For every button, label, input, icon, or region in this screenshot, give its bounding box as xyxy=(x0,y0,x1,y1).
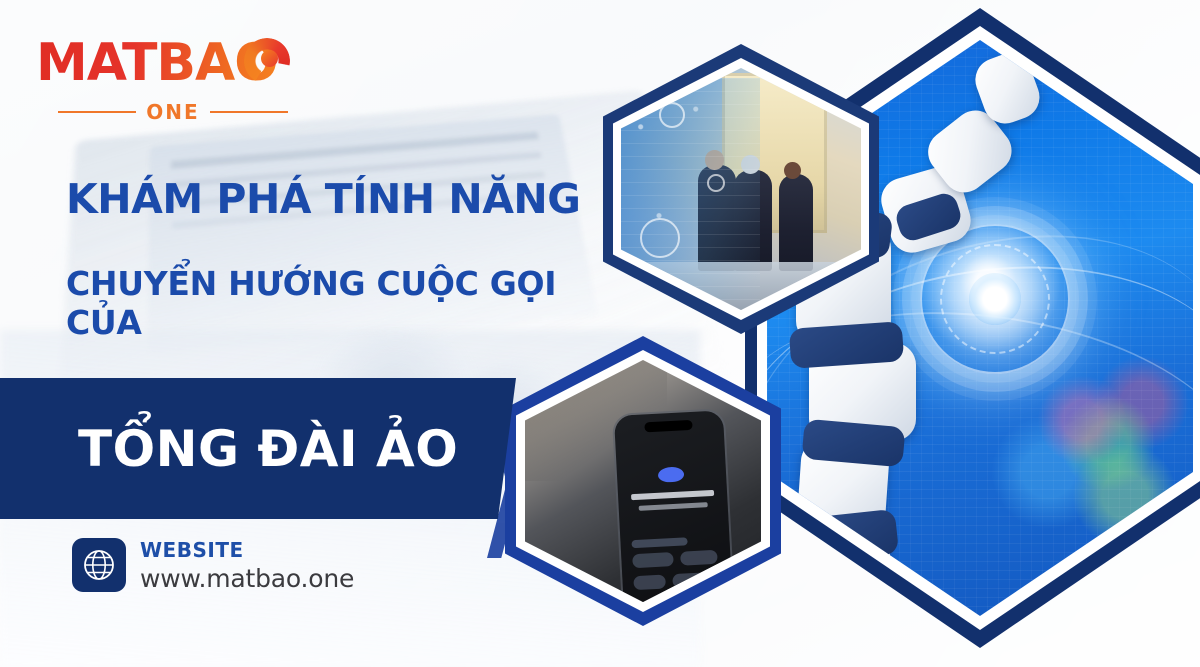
website-label: WEBSITE xyxy=(140,538,244,562)
logo-subtext: ONE xyxy=(146,100,199,124)
website-url[interactable]: www.matbao.one xyxy=(140,566,354,591)
website-text-block: WEBSITE www.matbao.one xyxy=(140,540,354,591)
phone-suggestion-chip xyxy=(634,574,667,590)
phone-suggestion-chip xyxy=(680,550,718,566)
person-figure xyxy=(779,174,813,271)
phone-suggestion-chip xyxy=(632,552,674,568)
banner-title: TỔNG ĐÀI ẢO xyxy=(0,420,458,478)
headline-line-1: KHÁM PHÁ TÍNH NĂNG xyxy=(66,178,606,221)
website-footer[interactable]: WEBSITE www.matbao.one xyxy=(72,538,354,592)
logo-wordmark-row: MATBAO xyxy=(34,32,288,94)
logo-wordmark: MATBAO xyxy=(34,37,278,89)
hud-ring xyxy=(640,218,680,258)
phone-notch xyxy=(645,420,693,432)
globe-icon xyxy=(72,538,126,592)
robot-joint xyxy=(789,321,905,369)
banner-canvas: MATBAO ONE KHÁM PHÁ TÍNH NĂNG CHUYỂN HƯỚ… xyxy=(0,0,1200,667)
highlight-banner: TỔNG ĐÀI ẢO xyxy=(0,378,516,519)
phone-greeting-text xyxy=(631,490,714,500)
swirl-o-icon-core xyxy=(261,50,278,67)
logo-sub-row: ONE xyxy=(34,100,288,124)
logo-rule-right xyxy=(210,111,288,113)
headline-block: KHÁM PHÁ TÍNH NĂNG CHUYỂN HƯỚNG CUỘC GỌI… xyxy=(66,178,606,343)
logo-rule-left xyxy=(58,111,136,113)
headline-line-2: CHUYỂN HƯỚNG CUỘC GỌI CỦA xyxy=(66,265,566,343)
phone-input-hint xyxy=(632,538,689,549)
matbao-one-logo[interactable]: MATBAO ONE xyxy=(34,32,288,132)
deepseek-whale-icon xyxy=(658,466,685,483)
phone-subtext xyxy=(639,503,709,511)
